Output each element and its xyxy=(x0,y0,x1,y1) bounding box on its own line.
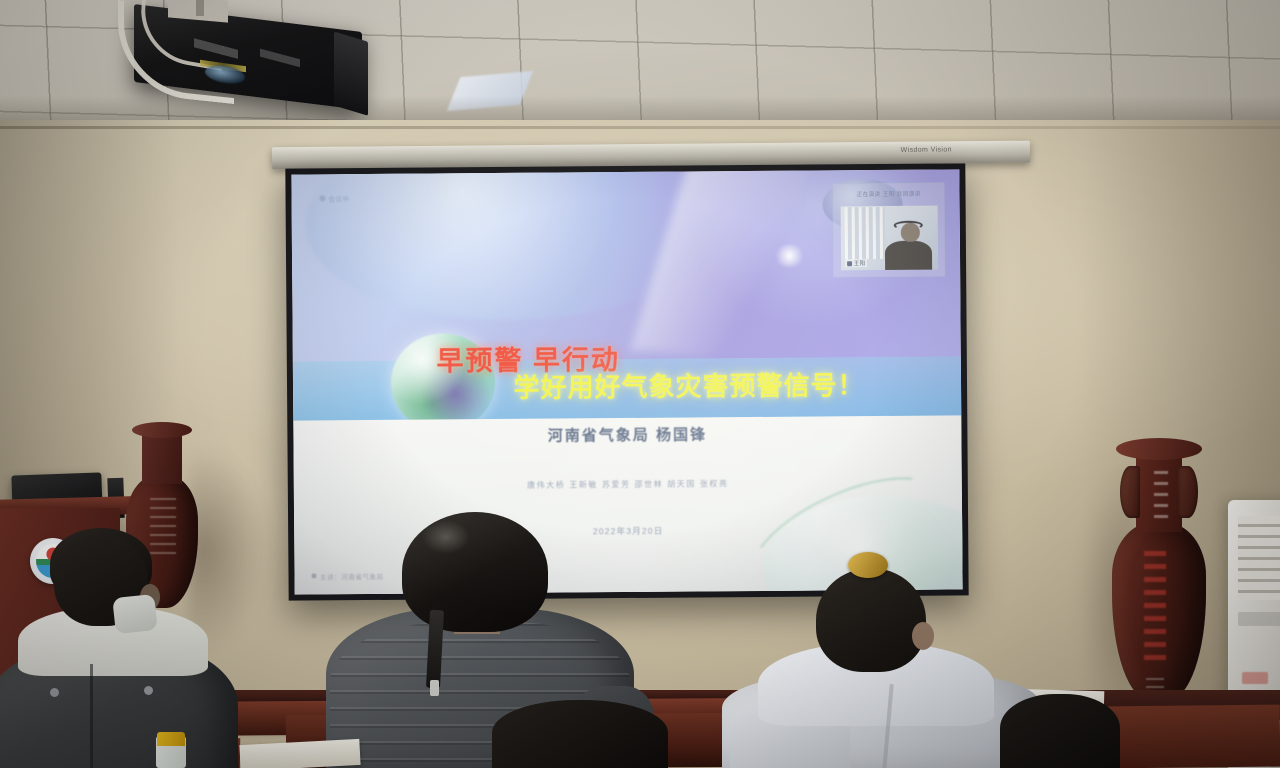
ac-brand-logo xyxy=(1242,672,1268,684)
meeting-status-label: 会议中 xyxy=(329,193,350,203)
attendee-left-snap-button-1 xyxy=(50,688,59,697)
attendee-center-zipper-pull xyxy=(430,680,439,696)
video-conference-panel[interactable]: 正在演讲 王阳 共同演讲 王阳 xyxy=(833,182,946,277)
attendee-foreground xyxy=(492,700,668,768)
attendee-right xyxy=(736,556,1036,768)
attendee-left xyxy=(0,534,230,768)
attendee-far-right xyxy=(1000,694,1120,768)
video-feed-name-label: 王阳 xyxy=(854,259,866,267)
attendee-right-hair-clip xyxy=(848,552,888,578)
paper-sheet-left xyxy=(239,739,360,768)
mic-indicator-icon xyxy=(847,261,852,266)
microphone-icon xyxy=(312,574,317,579)
left-vase-lip xyxy=(132,422,192,438)
water-bottle-cap xyxy=(157,732,185,746)
slide-headline-yellow: 学好用好气象灾害预警信号！ xyxy=(513,365,927,405)
screen-brand-label: Wisdom Vision xyxy=(901,146,952,153)
right-vase-handle-right xyxy=(1178,466,1198,518)
ac-vent-louvers xyxy=(1238,516,1280,600)
conference-room-photo: Wisdom Vision 早预警 早行动 学好用好气象灾害预警信号！ 河南省气… xyxy=(0,0,1280,768)
projector-label-secondary xyxy=(260,49,300,68)
slide-star-glow xyxy=(773,244,807,266)
attendee-left-jacket-seam xyxy=(90,664,93,768)
right-vase-calligraphy-top xyxy=(1154,466,1168,518)
video-panel-header-label: 正在演讲 王阳 共同演讲 xyxy=(857,189,921,198)
video-feed-window-blinds xyxy=(844,207,885,259)
attendee-right-hair xyxy=(816,568,926,672)
attendee-left-snap-button-2 xyxy=(144,686,153,695)
projector-front-face xyxy=(334,32,368,116)
meeting-status-top-left: 会议中 xyxy=(320,193,350,203)
video-feed: 王阳 xyxy=(840,205,937,270)
attendee-right-ear xyxy=(912,622,934,650)
video-panel-header: 正在演讲 王阳 共同演讲 xyxy=(834,183,944,204)
ac-control-panel xyxy=(1238,612,1280,626)
video-feed-name-tag: 王阳 xyxy=(845,259,868,267)
attendee-left-face-mask xyxy=(112,594,158,634)
right-vase-handle-left xyxy=(1120,466,1140,518)
right-vase-lip xyxy=(1116,438,1202,460)
right-vase-calligraphy-mid xyxy=(1144,550,1166,660)
meeting-status-icon xyxy=(320,195,326,201)
attendee-center-hair-highlight xyxy=(422,520,470,554)
video-feed-participant-body xyxy=(885,240,932,270)
